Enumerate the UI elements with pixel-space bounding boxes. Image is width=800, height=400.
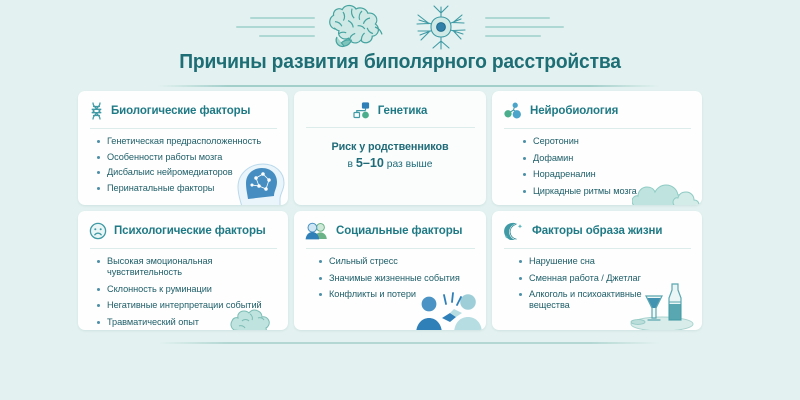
card-rule: [504, 128, 691, 129]
card-title: Психологические факторы: [114, 225, 266, 237]
bullet-list: Серотонин Дофамин Норадреналин Циркадные…: [521, 136, 691, 197]
hero-illustration-row: [0, 2, 800, 52]
statement-value: 5–10: [356, 156, 384, 170]
card-title: Социальные факторы: [336, 225, 462, 237]
card-rule: [90, 248, 277, 249]
molecule-icon: [503, 102, 523, 120]
card-title: Факторы образа жизни: [532, 225, 662, 237]
statement-line-2: в 5–10 раз выше: [305, 156, 475, 170]
list-item: Алкоголь и психоактивные вещества: [517, 289, 645, 311]
card-header: Социальные факторы: [305, 220, 475, 242]
list-item: Негативные интерпретации событий: [95, 300, 277, 311]
bullet-list: Нарушение сна Сменная работа / Джетлаг А…: [517, 256, 645, 311]
card-rule: [306, 127, 475, 128]
bullet-list: Генетическая предрасположенность Особенн…: [95, 136, 277, 194]
card-header: Психологические факторы: [89, 220, 277, 242]
header-divider: [157, 85, 660, 87]
card-title: Биологические факторы: [111, 105, 250, 117]
card-psychological[interactable]: Психологические факторы Высокая эмоциона…: [78, 211, 288, 330]
family-tree-icon: [353, 102, 371, 120]
infographic-root: Причины развития биполярного расстройств…: [0, 0, 800, 400]
header: Причины развития биполярного расстройств…: [0, 0, 800, 86]
people-icon: [305, 222, 329, 240]
list-item: Сильный стресс: [317, 256, 475, 267]
card-header: Генетика: [305, 100, 475, 122]
card-header: Нейробиология: [503, 100, 691, 122]
card-title: Генетика: [378, 105, 428, 117]
dna-icon: [89, 102, 104, 120]
card-neurobiology[interactable]: Нейробиология Серотонин Дофамин Норадрен…: [492, 91, 702, 205]
decorative-lines-left: [225, 17, 315, 37]
list-item: Норадреналин: [521, 169, 691, 180]
statement-suffix: раз выше: [384, 159, 433, 170]
list-item: Особенности работы мозга: [95, 152, 277, 163]
page-title: Причины развития биполярного расстройств…: [24, 50, 776, 74]
card-header: Факторы образа жизни: [503, 220, 691, 242]
list-item: Нарушение сна: [517, 256, 645, 267]
list-item: Генетическая предрасположенность: [95, 136, 277, 147]
list-item: Высокая эмоциональная чувствительность: [95, 256, 277, 278]
card-rule: [306, 248, 475, 249]
genetics-statement: Риск у родственников в 5–10 раз выше: [305, 141, 475, 170]
card-rule: [504, 248, 691, 249]
statement-prefix: в: [347, 159, 355, 170]
card-biological[interactable]: Биологические факторы Генетическая предр…: [78, 91, 288, 205]
moon-icon: [503, 222, 525, 240]
list-item: Склонность к руминации: [95, 284, 277, 295]
sad-face-icon: [89, 222, 107, 240]
factors-grid: Биологические факторы Генетическая предр…: [78, 91, 702, 330]
footer-divider: [157, 342, 660, 344]
list-item: Травматический опыт: [95, 317, 277, 328]
list-item: Значимые жизненные события: [317, 273, 475, 284]
neuron-illustration: [403, 3, 479, 51]
card-lifestyle[interactable]: Факторы образа жизни Нарушение сна Сменн…: [492, 211, 702, 330]
card-rule: [90, 128, 277, 129]
brain-illustration: [321, 3, 397, 51]
bullet-list: Высокая эмоциональная чувствительность С…: [95, 256, 277, 328]
list-item: Дисбалыис нейромедиаторов: [95, 167, 277, 178]
card-genetics[interactable]: Генетика Риск у родственников в 5–10 раз…: [294, 91, 486, 205]
bullet-list: Сильный стресс Значимые жизненные событи…: [317, 256, 475, 300]
statement-line-1: Риск у родственников: [305, 141, 475, 153]
list-item: Серотонин: [521, 136, 691, 147]
card-title: Нейробиология: [530, 105, 618, 117]
decorative-lines-right: [485, 17, 575, 37]
list-item: Конфликты и потери: [317, 289, 475, 300]
card-header: Биологические факторы: [89, 100, 277, 122]
card-social[interactable]: Социальные факторы Сильный стресс Значим…: [294, 211, 486, 330]
list-item: Дофамин: [521, 153, 691, 164]
list-item: Сменная работа / Джетлаг: [517, 273, 645, 284]
list-item: Циркадные ритмы мозга: [521, 186, 691, 197]
list-item: Перинатальные факторы: [95, 183, 277, 194]
